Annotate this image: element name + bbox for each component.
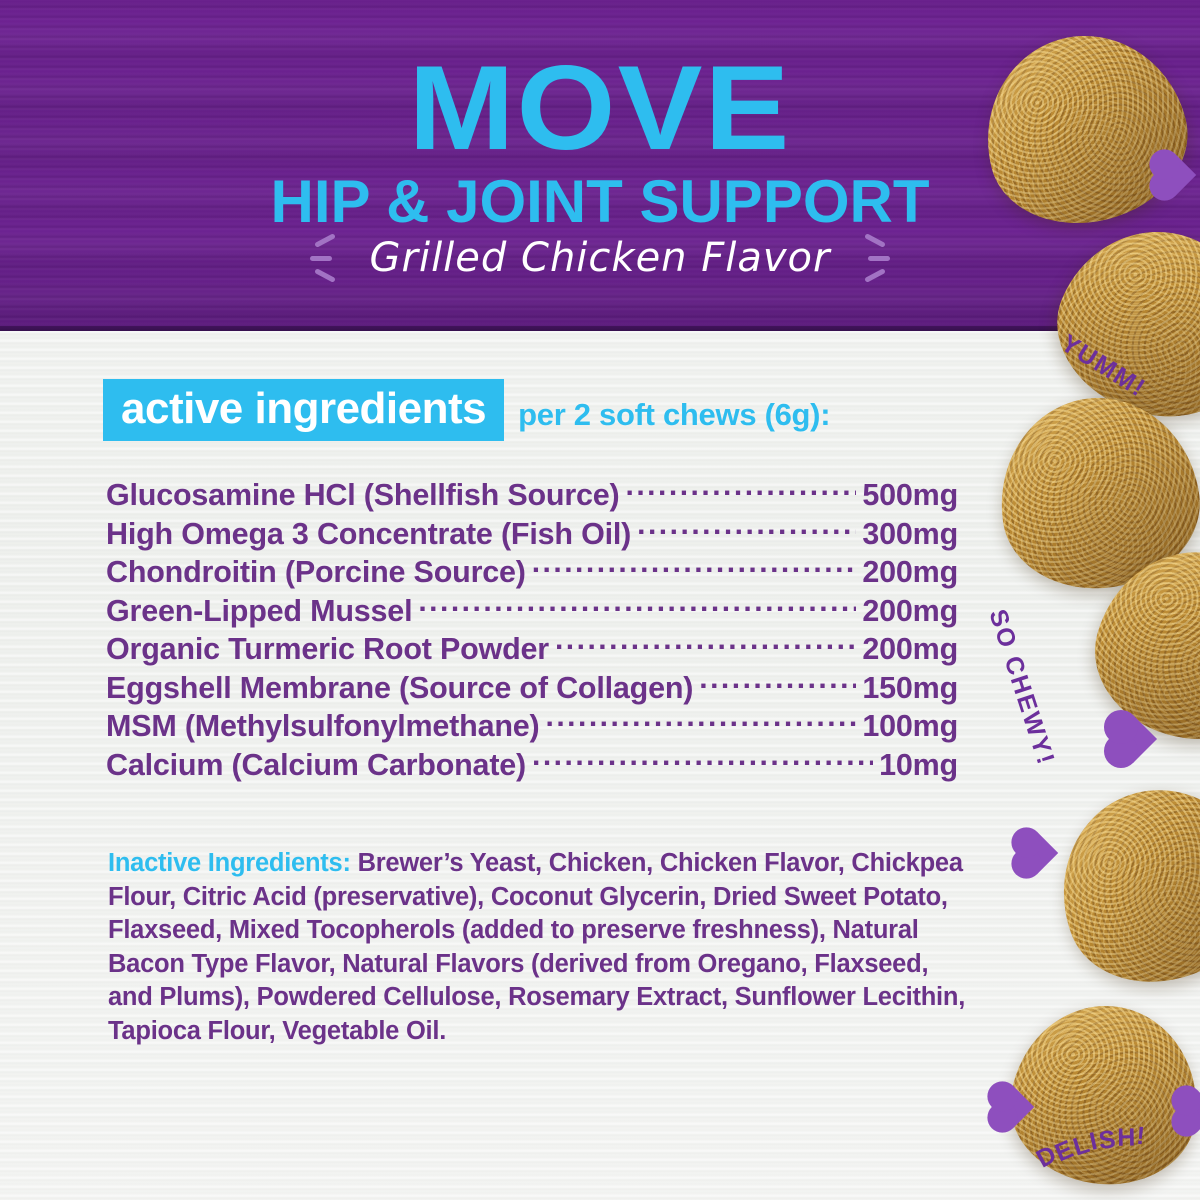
ingredient-row: Organic Turmeric Root Powder200mg bbox=[106, 629, 958, 668]
ingredient-amount: 200mg bbox=[862, 594, 958, 629]
ingredient-amount: 500mg bbox=[862, 478, 958, 513]
ingredient-name: High Omega 3 Concentrate (Fish Oil) bbox=[106, 517, 631, 552]
tag-delish-letter: S bbox=[1097, 1125, 1119, 1156]
ingredient-amount: 100mg bbox=[862, 709, 958, 744]
active-ingredients-list: Glucosamine HCl (Shellfish Source)500mgH… bbox=[106, 475, 958, 783]
tag-delish-letter: H bbox=[1117, 1124, 1137, 1153]
ingredient-amount: 300mg bbox=[862, 517, 958, 552]
ingredient-name: Organic Turmeric Root Powder bbox=[106, 632, 549, 667]
ingredient-amount: 10mg bbox=[879, 748, 958, 783]
dot-leader bbox=[532, 745, 873, 775]
flavor-row: Grilled Chicken Flavor bbox=[0, 232, 1200, 284]
tag-delish-letter: ! bbox=[1135, 1122, 1148, 1152]
dot-leader bbox=[555, 629, 856, 659]
inactive-ingredients-paragraph: Inactive Ingredients: Brewer’s Yeast, Ch… bbox=[108, 847, 968, 1048]
dash-decoration-left-icon bbox=[310, 232, 348, 284]
active-ingredients-chip: active ingredients bbox=[103, 379, 504, 441]
ingredient-name: Chondroitin (Porcine Source) bbox=[106, 555, 526, 590]
ingredient-name: MSM (Methylsulfonylmethane) bbox=[106, 709, 539, 744]
dot-leader bbox=[418, 591, 856, 621]
dash-decoration-right-icon bbox=[852, 232, 890, 284]
inactive-ingredients-label: Inactive Ingredients: bbox=[108, 849, 351, 877]
ingredient-row: Eggshell Membrane (Source of Collagen)15… bbox=[106, 668, 958, 707]
ingredient-row: High Omega 3 Concentrate (Fish Oil)300mg bbox=[106, 514, 958, 553]
serving-size-note: per 2 soft chews (6g): bbox=[518, 399, 830, 441]
ingredient-row: Green-Lipped Mussel200mg bbox=[106, 591, 958, 630]
purple-heart-5 bbox=[1176, 1090, 1200, 1132]
product-label: MOVE HIP & JOINT SUPPORT Grilled Chicken… bbox=[0, 0, 1200, 1200]
active-ingredients-heading: active ingredients per 2 soft chews (6g)… bbox=[103, 379, 830, 441]
inactive-ingredients-text: Brewer’s Yeast, Chicken, Chicken Flavor,… bbox=[108, 849, 965, 1045]
dot-leader bbox=[626, 475, 857, 505]
ingredient-row: Calcium (Calcium Carbonate)10mg bbox=[106, 745, 958, 784]
ingredient-amount: 200mg bbox=[862, 632, 958, 667]
dot-leader bbox=[699, 668, 856, 698]
ingredient-name: Green-Lipped Mussel bbox=[106, 594, 412, 629]
ingredient-row: Chondroitin (Porcine Source)200mg bbox=[106, 552, 958, 591]
dot-leader bbox=[545, 706, 856, 736]
dot-leader bbox=[532, 552, 857, 582]
ingredient-row: MSM (Methylsulfonylmethane)100mg bbox=[106, 706, 958, 745]
flavor-label: Grilled Chicken Flavor bbox=[370, 235, 831, 281]
ingredient-name: Glucosamine HCl (Shellfish Source) bbox=[106, 478, 620, 513]
ingredient-name: Calcium (Calcium Carbonate) bbox=[106, 748, 526, 783]
dot-leader bbox=[637, 514, 856, 544]
ingredient-amount: 200mg bbox=[862, 555, 958, 590]
ingredient-row: Glucosamine HCl (Shellfish Source)500mg bbox=[106, 475, 958, 514]
ingredient-amount: 150mg bbox=[862, 671, 958, 706]
ingredient-name: Eggshell Membrane (Source of Collagen) bbox=[106, 671, 693, 706]
